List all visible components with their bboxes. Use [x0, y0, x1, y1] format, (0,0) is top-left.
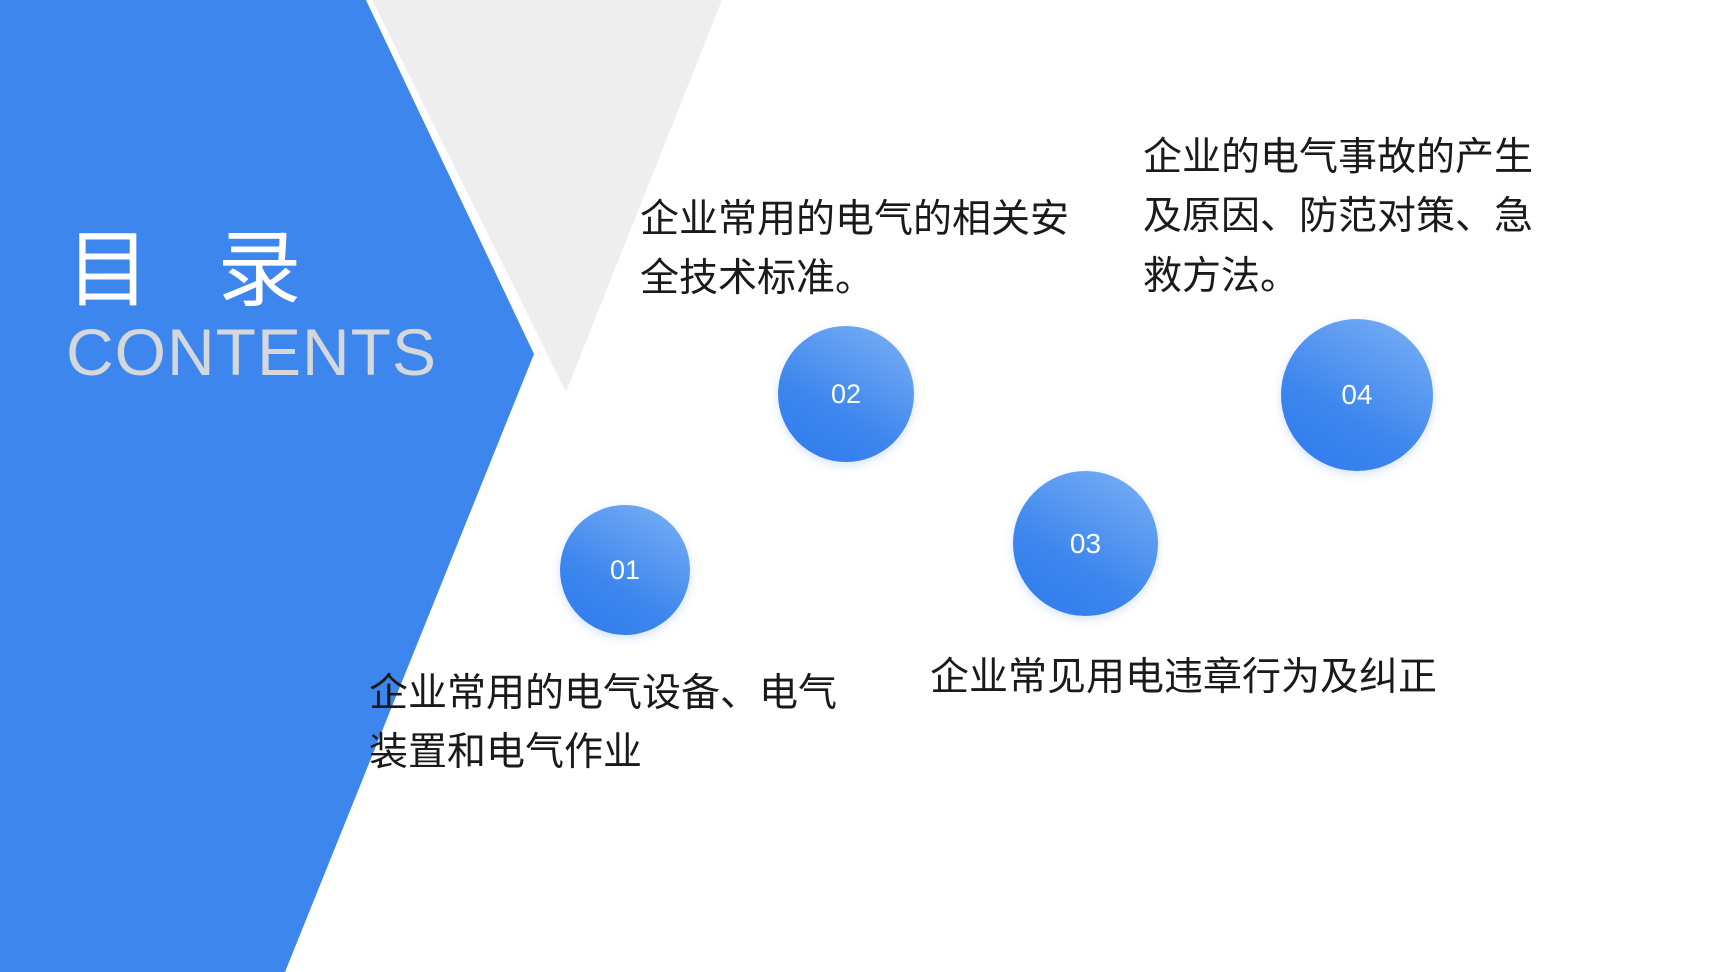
contents-item-02-circle[interactable]: 02: [778, 326, 914, 462]
contents-item-04-circle[interactable]: 04: [1281, 319, 1433, 471]
slide-canvas: 目 录 CONTENTS 01 企业常用的电气设备、电气 装置和电气作业 02 …: [0, 0, 1728, 972]
title-chinese: 目 录: [66, 228, 496, 312]
page-title: 目 录 CONTENTS: [66, 228, 496, 387]
contents-item-01-number: 01: [610, 555, 640, 586]
contents-item-02-text: 企业常用的电气的相关安 全技术标准。: [640, 190, 1090, 309]
contents-item-04-number: 04: [1341, 379, 1372, 411]
contents-item-01-text: 企业常用的电气设备、电气 装置和电气作业: [369, 664, 869, 783]
contents-item-01-circle[interactable]: 01: [560, 505, 690, 635]
contents-item-04-text: 企业的电气事故的产生 及原因、防范对策、急 救方法。: [1143, 128, 1543, 306]
title-english: CONTENTS: [66, 318, 496, 387]
contents-item-03-number: 03: [1070, 528, 1101, 560]
contents-item-02-number: 02: [831, 379, 861, 410]
contents-item-03-circle[interactable]: 03: [1013, 471, 1158, 616]
contents-item-03-text: 企业常见用电违章行为及纠正: [930, 648, 1470, 707]
